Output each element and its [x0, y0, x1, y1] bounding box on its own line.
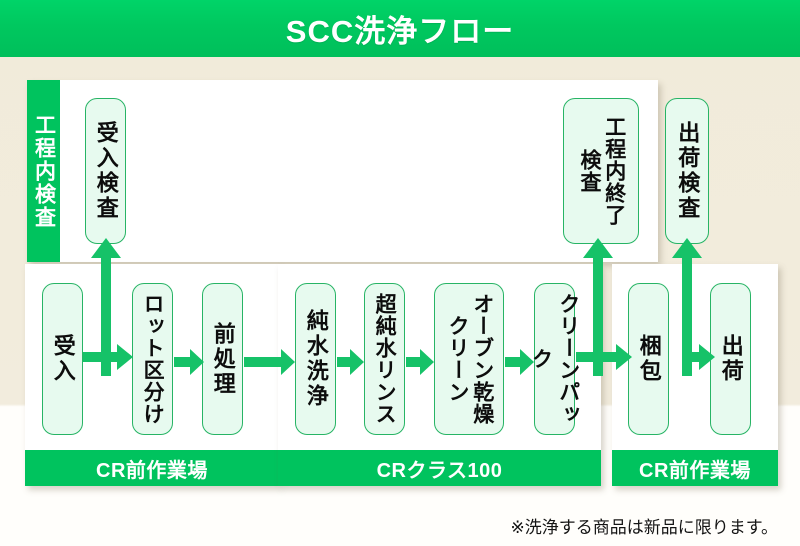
process-box-clean-oven-kanso[interactable]: クリーン オーブン乾燥	[434, 283, 504, 435]
process-box-label: 梱包	[634, 334, 663, 384]
process-box-chojunsui-rinse[interactable]: 超純水リンス	[364, 283, 405, 435]
arrow-konpo-to-shukka-and-inspection	[669, 236, 729, 376]
arrow-chojunsui-to-oven	[406, 348, 434, 376]
process-box-junsui-senjo[interactable]: 純水洗浄	[295, 283, 336, 435]
page-header: SCC洗浄フロー	[0, 0, 800, 57]
inspection-box-koteinai-shuryo-kensa[interactable]: 検査 工程内終了	[563, 98, 639, 244]
process-box-label: 超純水リンス	[371, 293, 398, 425]
process-box-label: 純水洗浄	[301, 309, 330, 409]
arrow-lot-to-maeshori	[174, 348, 204, 376]
inspection-box-label-col2: 検査	[576, 149, 601, 193]
process-box-clean-pack[interactable]: クリーンパック	[534, 283, 575, 435]
inspection-box-label-col1: 工程内終了	[601, 116, 626, 226]
process-box-ukeire[interactable]: 受入	[42, 283, 83, 435]
process-box-label: 受入	[48, 334, 77, 384]
group-label: CRクラス100	[278, 450, 601, 486]
inspection-sidebar-label: 工程内検査	[27, 80, 60, 262]
process-box-label-col2: オーブン乾燥	[469, 293, 494, 425]
group-label: CR前作業場	[612, 450, 778, 486]
process-box-label: 前処理	[208, 322, 237, 397]
footer-note: ※洗浄する商品は新品に限ります。	[510, 513, 778, 538]
arrow-ukeire-to-lot-and-inspection	[83, 236, 143, 376]
arrow-junsui-to-chojunsui	[337, 348, 364, 376]
arrow-maeshori-to-junsui	[244, 348, 295, 376]
process-box-label: クリーンパック	[527, 284, 582, 434]
arrow-cleanpack-to-konpo-and-inspection	[576, 236, 636, 376]
process-box-maeshori[interactable]: 前処理	[202, 283, 243, 435]
inspection-box-label: 受入検査	[91, 121, 120, 221]
inspection-sidebar-text: 工程内検査	[32, 114, 56, 229]
inspection-box-ukeire-kensa[interactable]: 受入検査	[85, 98, 126, 244]
page-title: SCC洗浄フロー	[286, 6, 514, 51]
arrow-oven-to-cleanpack	[505, 348, 534, 376]
inspection-box-label: 出荷検査	[673, 121, 702, 221]
inspection-box-shukka-kensa[interactable]: 出荷検査	[665, 98, 709, 244]
process-box-label-col1: クリーン	[444, 315, 469, 403]
group-label: CR前作業場	[25, 450, 279, 486]
